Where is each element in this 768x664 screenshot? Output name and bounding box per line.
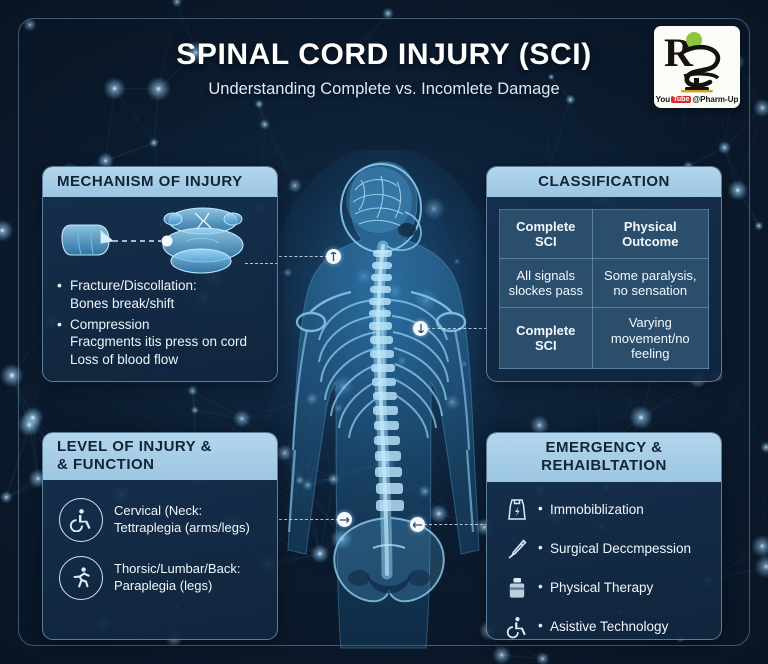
panel-level-title-line2: & FUNCTION (57, 456, 277, 474)
panel-mechanism-of-injury: MECHANISM OF INJURY (42, 166, 278, 382)
level-item-0-line2: Tettraplegia (arms/legs) (114, 520, 250, 535)
classification-table: Complete SCI Physical Outcome All signal… (499, 209, 709, 369)
level-item-0-line1: Cervical (Neck: (114, 503, 202, 518)
emergency-item-physical-therapy: Physical Therapy (505, 575, 707, 601)
emergency-item-immobilization: Immobiblization (505, 497, 707, 523)
connector-lumbar-to-level (279, 519, 339, 520)
mechanism-item-1-sub: Fracgments itis press on cord (70, 333, 263, 351)
table-row: Complete SCI Varying movement/no feeling (500, 308, 709, 369)
brand-logo: R YouTube@Pharm-Up (654, 26, 740, 108)
panel-level-of-injury: LEVEL OF INJURY & & FUNCTION Cervical (N… (42, 432, 278, 640)
connector-brain-to-mechanism (279, 256, 328, 257)
table-cell-r1-c0: Complete SCI (500, 308, 593, 369)
header: SPINAL CORD INJURY (SCI) Understanding C… (0, 38, 768, 99)
youtube-badge-icon: Tube (671, 96, 691, 103)
table-row: Complete SCI Physical Outcome (500, 210, 709, 259)
marker-dot-brain (326, 249, 341, 264)
panel-level-title: LEVEL OF INJURY & & FUNCTION (43, 433, 277, 480)
table-cell-r0-c0: All signals slockes pass (500, 259, 593, 308)
level-item-1-line2: Paraplegia (legs) (114, 578, 212, 593)
marker-dot-pelvis (410, 517, 425, 532)
emergency-item-2-label: Physical Therapy (538, 580, 653, 595)
emergency-item-0-label: Immobiblization (538, 502, 644, 517)
emergency-item-assistive-tech: Asistive Technology (505, 614, 707, 640)
connector-spine-to-classification (427, 328, 487, 329)
panel-emergency-title-line1: EMERGENCY & (487, 439, 721, 457)
scalpel-icon (505, 536, 529, 562)
level-item-cervical-text: Cervical (Neck: Tettraplegia (arms/legs) (114, 503, 250, 537)
level-item-thoracic-text: Thorsic/Lumbar/Back: Paraplegia (legs) (114, 561, 240, 595)
marker-dot-lumbar (337, 512, 352, 527)
emergency-item-3-label: Asistive Technology (538, 619, 668, 634)
table-row: All signals slockes pass Some paralysis,… (500, 259, 709, 308)
rx-pharmacy-icon: R (654, 26, 740, 96)
medicine-bottle-icon (505, 575, 529, 601)
logo-caption-suffix: @Pharm-Up (692, 95, 738, 104)
logo-caption: YouTube@Pharm-Up (654, 95, 740, 104)
mechanism-item-1-label: Compression (70, 317, 150, 332)
table-cell-r1-c1: Varying movement/no feeling (592, 308, 708, 369)
mechanism-item-0-sub: Bones break/shift (70, 295, 263, 313)
wheelchair-icon (59, 498, 103, 542)
table-header-cell-1: Physical Outcome (592, 210, 708, 259)
vertebra-illustrations (57, 203, 263, 277)
mechanism-item-0-label: Fracture/Discollation: (70, 278, 197, 293)
panel-emergency-rehabilitation: EMERGENCY & REHAIBLTATION Immobiblizatio… (486, 432, 722, 640)
xray-anatomy-illustration (255, 150, 513, 650)
panel-emergency-title: EMERGENCY & REHAIBLTATION (487, 433, 721, 482)
vertebra-diagram-icon (57, 203, 263, 277)
list-item: Fracture/Discollation: Bones break/shift (57, 277, 263, 312)
running-person-icon (59, 556, 103, 600)
panel-level-title-line1: LEVEL OF INJURY & (57, 438, 277, 456)
page-subtitle: Understanding Complete vs. Incomlete Dam… (0, 80, 768, 99)
panel-classification-title: CLASSIFICATION (487, 167, 721, 197)
emergency-item-1-label: Surgical Deccmpession (538, 541, 691, 556)
human-xray-figure (255, 150, 513, 650)
wheelchair-icon (505, 614, 529, 640)
marker-dot-spine (413, 321, 428, 336)
level-item-thoracic: Thorsic/Lumbar/Back: Paraplegia (legs) (59, 556, 263, 600)
logo-caption-prefix: You (656, 95, 671, 104)
level-item-cervical: Cervical (Neck: Tettraplegia (arms/legs) (59, 498, 263, 542)
mechanism-item-1-sub2: Loss of blood flow (70, 351, 263, 369)
panel-emergency-title-line2: REHAIBLTATION (487, 457, 721, 475)
table-header-cell-0: Complete SCI (500, 210, 593, 259)
connector-pelvis-to-emergency (424, 524, 488, 525)
connector-vertebra-to-figure (245, 263, 278, 264)
panel-classification: CLASSIFICATION Complete SCI Physical Out… (486, 166, 722, 382)
level-item-1-line1: Thorsic/Lumbar/Back: (114, 561, 240, 576)
emergency-item-surgery: Surgical Deccmpession (505, 536, 707, 562)
mechanism-list: Fracture/Discollation: Bones break/shift… (57, 277, 263, 368)
panel-mechanism-title: MECHANISM OF INJURY (43, 167, 277, 197)
table-cell-r0-c1: Some paralysis, no sensation (592, 259, 708, 308)
neck-brace-icon (505, 497, 529, 523)
page-title: SPINAL CORD INJURY (SCI) (0, 38, 768, 72)
list-item: Compression Fracgments itis press on cor… (57, 316, 263, 369)
